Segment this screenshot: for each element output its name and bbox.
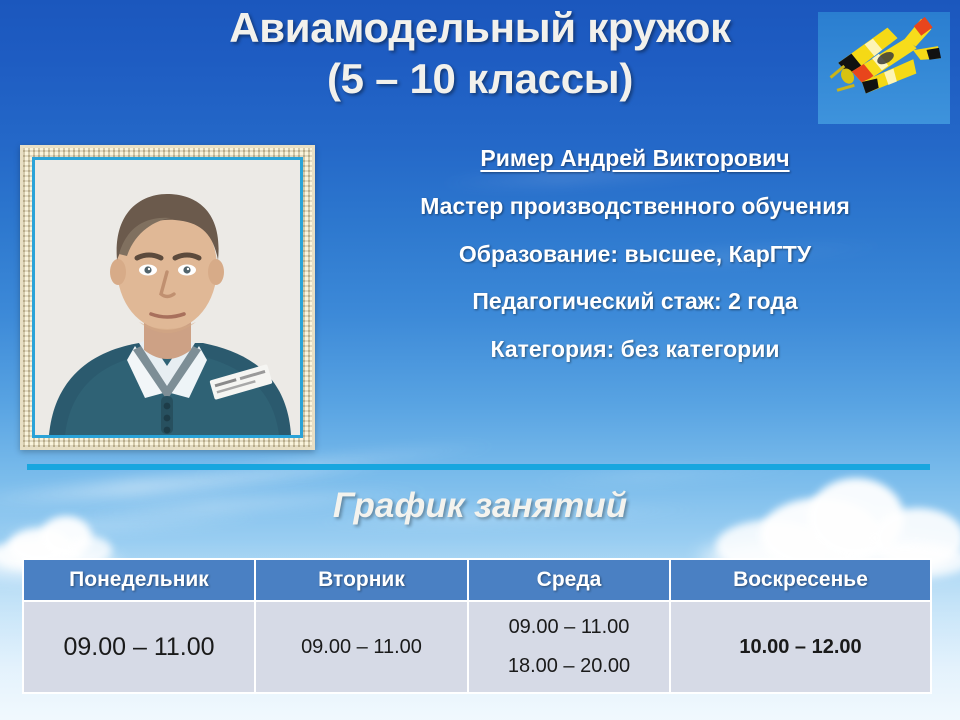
teacher-name: Ример Андрей Викторович bbox=[325, 146, 945, 172]
schedule-table: Понедельник Вторник Среда Воскресенье 09… bbox=[22, 558, 932, 694]
table-row: 09.00 – 11.00 09.00 – 11.00 09.00 – 11.0… bbox=[23, 601, 931, 693]
teacher-photo-frame bbox=[20, 145, 315, 450]
model-airplane-image bbox=[818, 12, 950, 124]
section-divider bbox=[27, 464, 930, 470]
teacher-experience: Педагогический стаж: 2 года bbox=[325, 289, 945, 315]
time-slot: 10.00 – 12.00 bbox=[677, 636, 924, 659]
column-header-monday: Понедельник bbox=[23, 559, 255, 601]
teacher-education: Образование: высшее, КарГТУ bbox=[325, 242, 945, 268]
column-header-wednesday: Среда bbox=[468, 559, 670, 601]
time-slot: 18.00 – 20.00 bbox=[475, 647, 663, 686]
title-line-1: Авиамодельный кружок bbox=[229, 4, 731, 51]
teacher-info-block: Ример Андрей Викторович Мастер производс… bbox=[325, 146, 945, 363]
column-header-sunday: Воскресенье bbox=[670, 559, 931, 601]
time-slot: 09.00 – 11.00 bbox=[475, 608, 663, 647]
column-header-tuesday: Вторник bbox=[255, 559, 468, 601]
cell-wednesday: 09.00 – 11.00 18.00 – 20.00 bbox=[468, 601, 670, 693]
cell-monday: 09.00 – 11.00 bbox=[23, 601, 255, 693]
title-line-2: (5 – 10 классы) bbox=[130, 53, 830, 104]
cell-sunday: 10.00 – 12.00 bbox=[670, 601, 931, 693]
table-header-row: Понедельник Вторник Среда Воскресенье bbox=[23, 559, 931, 601]
teacher-position: Мастер производственного обучения bbox=[325, 194, 945, 220]
teacher-photo bbox=[32, 157, 303, 438]
page-title: Авиамодельный кружок (5 – 10 классы) bbox=[130, 2, 830, 104]
schedule-heading: График занятий bbox=[0, 486, 960, 526]
time-slot: 09.00 – 11.00 bbox=[30, 633, 248, 662]
teacher-category: Категория: без категории bbox=[325, 337, 945, 363]
cell-tuesday: 09.00 – 11.00 bbox=[255, 601, 468, 693]
time-slot: 09.00 – 11.00 bbox=[262, 636, 461, 659]
slide-canvas: Авиамодельный кружок (5 – 10 классы) bbox=[0, 0, 960, 720]
